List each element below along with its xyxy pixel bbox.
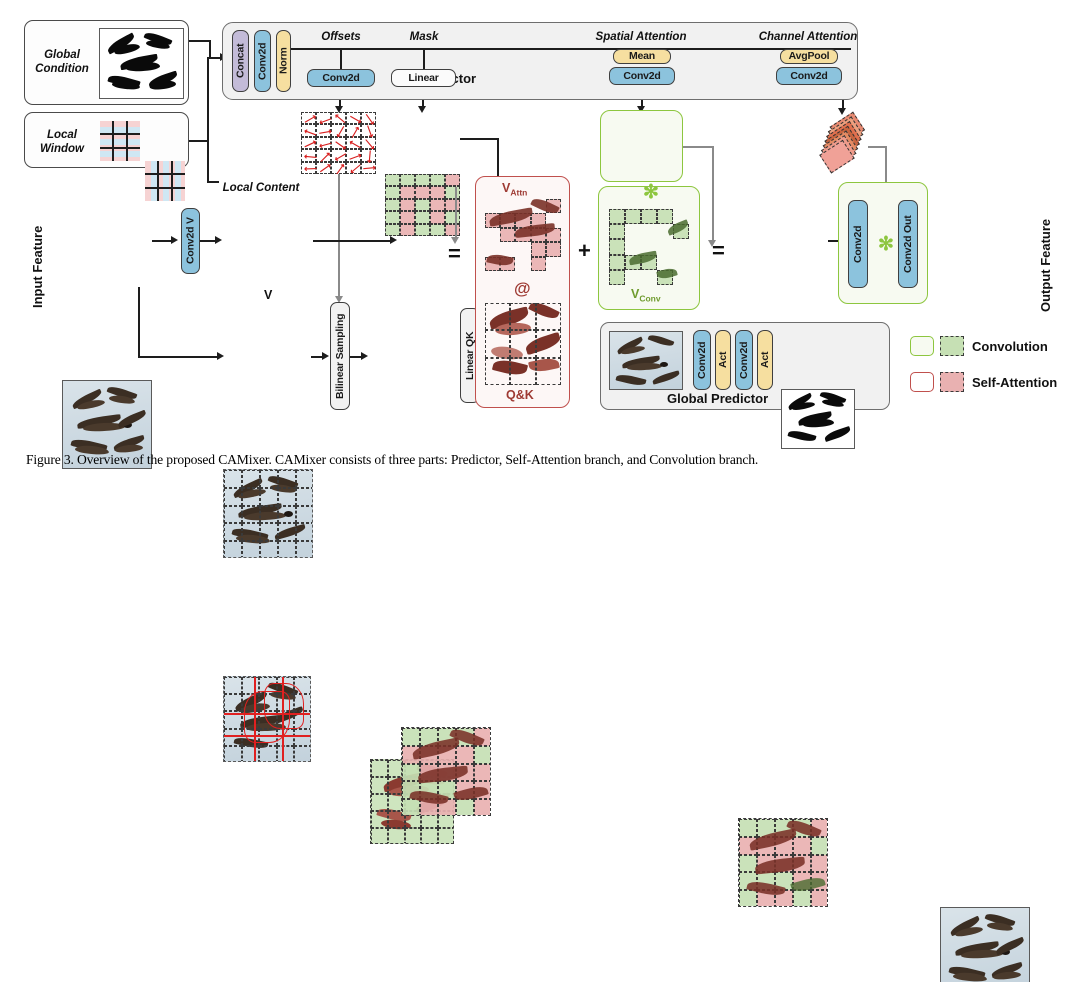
- figure-caption: Figure 3. Overview of the proposed CAMix…: [26, 452, 1056, 468]
- predictor-channel-avgpool[interactable]: AvgPool: [780, 49, 838, 64]
- connector-spatial-down: [712, 146, 714, 242]
- predictor-channel-conv2d[interactable]: Conv2d: [776, 67, 842, 85]
- global-predictor-act-1[interactable]: Act: [715, 330, 731, 390]
- offsets-map: ⟶ ⟶ ⟶ ⟶ ⟶ ⟶ ⟶ ⟶ ⟶ ⟶ ⟶ ⟶ ⟶ ⟶ ⟶ ⟶ ⟶ ⟶ ⟶ ⟶ …: [301, 112, 376, 174]
- merged-masked-map: [401, 727, 491, 816]
- predictor-spatial-conv2d[interactable]: Conv2d: [609, 67, 675, 85]
- predictor-panel: Predictor Concat Conv2d Norm Offsets Con…: [222, 22, 858, 100]
- predictor-bus: [291, 48, 851, 50]
- connector-lw-down: [207, 57, 209, 141]
- star-operator-vconv: ✻: [643, 183, 659, 202]
- v-conv-panel: ✻: [598, 186, 700, 310]
- offset-arrow: ⟶: [304, 151, 318, 161]
- legend: Convolution Self-Attention: [910, 330, 1075, 404]
- legend-swatch-self-attention-fill: [940, 372, 964, 392]
- output-conv2d-module[interactable]: Conv2d: [848, 200, 868, 288]
- output-feature-label: Output Feature: [1038, 196, 1053, 312]
- local-window-line1: Local: [31, 129, 93, 143]
- global-condition-panel: Global Condition: [24, 20, 189, 105]
- connector-merged-down: [455, 187, 457, 239]
- mask-map: [385, 174, 460, 236]
- offset-sampled-map: [223, 676, 311, 762]
- arrow-channel: [838, 108, 846, 115]
- global-condition-image: [99, 28, 184, 99]
- arrow-bilinear-out: [361, 352, 368, 360]
- local-window-label: Local Window: [31, 129, 93, 156]
- v-attn-panel: VAttn: [475, 176, 570, 408]
- local-window-line2: Window: [31, 143, 93, 157]
- offset-arrow: ⟶: [364, 150, 374, 164]
- v-conv-subscript: Conv: [639, 294, 660, 304]
- predictor-mask-stem: [423, 48, 425, 69]
- connector-mask-right: [460, 138, 498, 140]
- global-predictor-title: Global Predictor: [667, 391, 768, 406]
- plus-operator: +: [578, 240, 591, 262]
- output-conv-panel: Conv2d ✻ Conv2d Out: [838, 182, 928, 304]
- arrow-input-to-conv: [171, 236, 178, 244]
- predictor-module-norm[interactable]: Norm: [276, 30, 291, 92]
- connector-spatial-right: [683, 146, 713, 148]
- v-conv-label: VConv: [631, 287, 661, 304]
- predictor-header-mask: Mask: [389, 31, 459, 45]
- connector-offsets-bilinear: [338, 174, 340, 298]
- global-condition-line1: Global: [31, 49, 93, 63]
- output-conv2d-out-module[interactable]: Conv2d Out: [898, 200, 918, 288]
- local-window-panel: Local Window: [24, 112, 189, 168]
- v-attn-subscript: Attn: [510, 188, 527, 198]
- channel-attention-stack: [812, 118, 874, 166]
- global-condition-label: Global Condition: [31, 49, 93, 76]
- predictor-header-offsets: Offsets: [301, 31, 381, 45]
- qk-label: Q&K: [506, 388, 534, 402]
- global-predictor-conv2d-1[interactable]: Conv2d: [693, 330, 711, 390]
- connector-input-down: [138, 287, 140, 357]
- offset-arrow: ⟶: [304, 164, 317, 173]
- arrow-input-lower: [217, 352, 224, 360]
- predictor-mask-linear[interactable]: Linear: [391, 69, 456, 87]
- predictor-header-spatial-attention: Spatial Attention: [576, 31, 706, 45]
- arrow-mask: [418, 106, 426, 113]
- output-feature-image: [940, 907, 1030, 982]
- equals-operator-1: =: [448, 243, 461, 265]
- local-content-label: Local Content: [196, 182, 326, 196]
- legend-label-convolution: Convolution: [972, 339, 1048, 354]
- at-operator: @: [514, 279, 531, 299]
- predictor-header-channel-attention: Channel Attention: [743, 31, 873, 45]
- v-attn-label: VAttn: [502, 181, 527, 198]
- arrow-v-to-merge: [390, 236, 397, 244]
- legend-item-self-attention: Self-Attention: [910, 368, 1075, 396]
- predictor-module-conv2d[interactable]: Conv2d: [254, 30, 271, 92]
- global-predictor-act-2[interactable]: Act: [757, 330, 773, 390]
- v-conv-map: [609, 209, 689, 285]
- v-attn-map: [485, 199, 561, 271]
- global-predictor-input-image: [609, 331, 683, 390]
- legend-swatch-convolution-fill: [940, 336, 964, 356]
- sum-output-map: [738, 818, 828, 907]
- conv2d-v-module[interactable]: Conv2d V: [181, 208, 200, 274]
- connector-lw-out: [189, 140, 209, 142]
- connector-gc-down: [209, 40, 211, 58]
- legend-item-convolution: Convolution: [910, 332, 1075, 360]
- global-predictor-output-image: [781, 389, 855, 449]
- local-window-grid-vertical: [145, 161, 185, 201]
- connector-channel-right: [868, 146, 886, 148]
- predictor-offsets-stem: [340, 48, 342, 69]
- predictor-spatial-mean[interactable]: Mean: [613, 49, 671, 64]
- connector-input-lower: [138, 356, 218, 358]
- predictor-module-concat[interactable]: Concat: [232, 30, 249, 92]
- legend-swatch-self-attention-outline: [910, 372, 934, 392]
- arrow-to-bilinear: [322, 352, 329, 360]
- global-predictor-panel: Conv2d Act Conv2d Act Global Predictor: [600, 322, 890, 410]
- star-operator-output: ✻: [878, 235, 894, 254]
- connector-input-to-conv: [152, 240, 172, 242]
- global-condition-line2: Condition: [31, 63, 93, 77]
- connector-lw-tolocal: [207, 140, 209, 182]
- legend-swatch-convolution-outline: [910, 336, 934, 356]
- legend-label-self-attention: Self-Attention: [972, 375, 1057, 390]
- local-content-v-map: [223, 469, 313, 558]
- v-symbol-label: V: [264, 288, 272, 302]
- connector-sum-to-out: [828, 240, 838, 242]
- global-predictor-conv2d-2[interactable]: Conv2d: [735, 330, 753, 390]
- offset-arrow: ⟶: [363, 163, 376, 173]
- spatial-attention-panel: [600, 110, 683, 182]
- local-window-grid-horizontal: [100, 121, 140, 161]
- figure-canvas: Global Condition Local Window: [0, 0, 1080, 440]
- connector-mask-down: [497, 138, 499, 176]
- qk-map: [485, 303, 561, 385]
- connector-v-right: [313, 240, 391, 242]
- bilinear-sampling-module[interactable]: Bilinear Sampling: [330, 302, 350, 410]
- connector-conv-to-v: [200, 240, 216, 242]
- predictor-offsets-conv2d[interactable]: Conv2d: [307, 69, 375, 87]
- connector-gc-out: [189, 40, 211, 42]
- input-feature-label: Input Feature: [30, 198, 45, 308]
- arrow-conv-to-v: [215, 236, 222, 244]
- equals-operator-2: =: [712, 240, 725, 262]
